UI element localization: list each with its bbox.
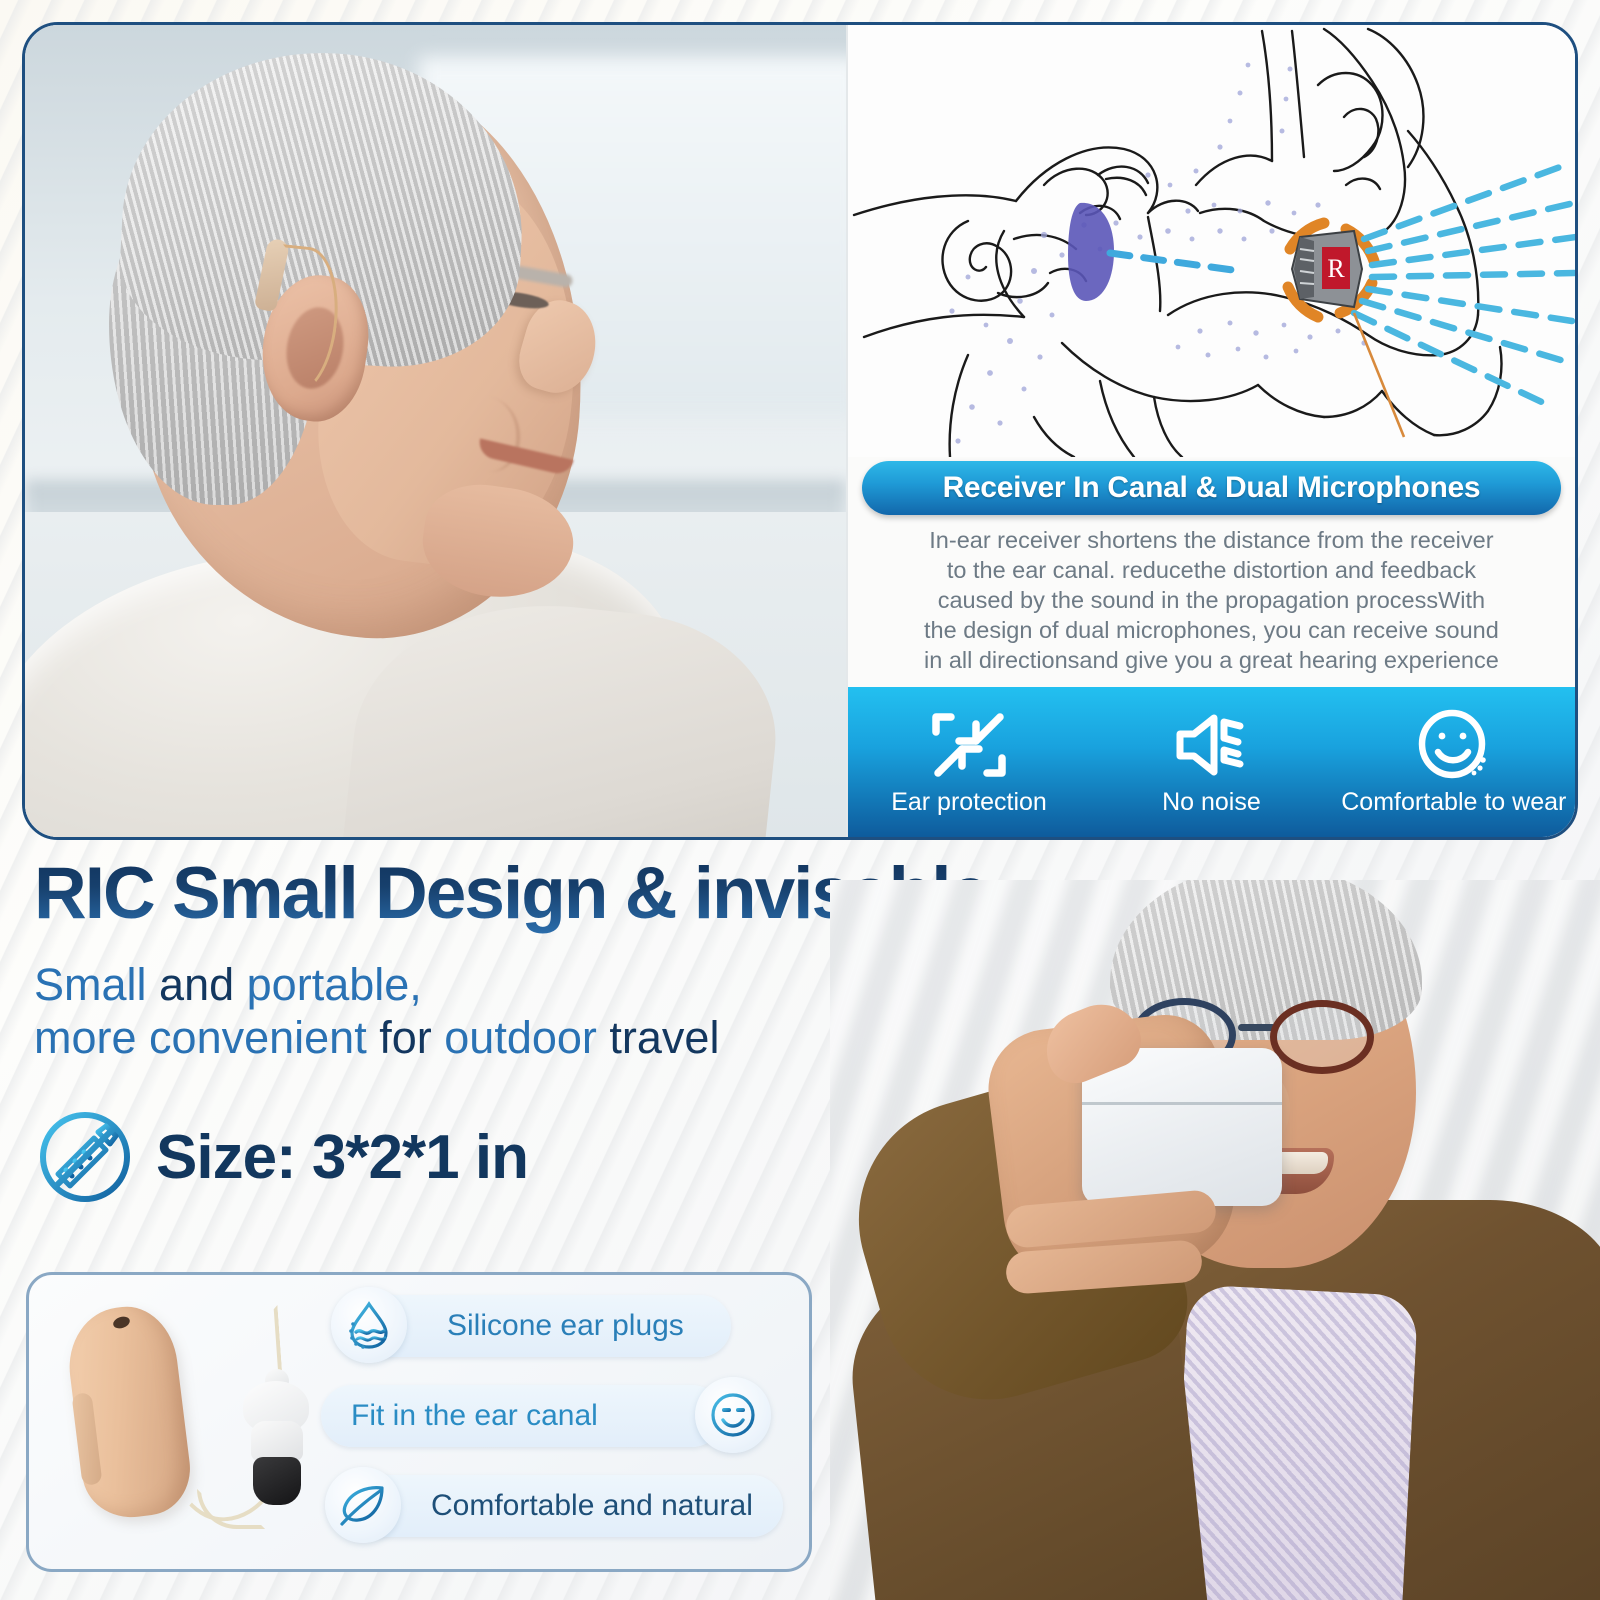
- subtitle-word: portable,: [247, 959, 422, 1010]
- description-line-4: the design of dual microphones, you can …: [860, 615, 1563, 645]
- shrink-arrows-icon: [926, 708, 1012, 782]
- feature-description: In-ear receiver shortens the distance fr…: [848, 515, 1575, 675]
- chip-label: Silicone ear plugs: [447, 1309, 684, 1343]
- water-drop-waves-icon-badge: [331, 1287, 407, 1363]
- subtitle-word: and: [159, 959, 234, 1010]
- subtitle-word: Small: [34, 959, 147, 1010]
- bte-hearing-aid-with-receiver-dome: [47, 1281, 327, 1571]
- smiley-face-icon: [709, 1391, 757, 1439]
- ruler-pencil-circle-icon: [36, 1108, 134, 1206]
- receiver-label-R: R: [1327, 254, 1345, 283]
- receiver-in-canal-banner: Receiver In Canal & Dual Microphones: [862, 461, 1561, 515]
- receiver-dome-base: [253, 1457, 301, 1505]
- subtitle-word: convenient: [149, 1012, 367, 1063]
- charging-case: [1082, 1048, 1282, 1206]
- senior-man-wearing-hearing-aid-photo: [25, 25, 846, 837]
- chip-label: Fit in the ear canal: [351, 1399, 598, 1433]
- mute-speaker-icon: [1168, 708, 1254, 782]
- leaf-icon-badge: [325, 1467, 401, 1543]
- leaf-icon: [338, 1483, 388, 1527]
- smiley-face-icon: [1411, 708, 1497, 782]
- feature-label: Ear protection: [891, 788, 1047, 817]
- subtitle-line-1: Small and portable,: [34, 958, 719, 1011]
- feature-chip-list: Silicone ear plugs Fit in the ear canal: [315, 1289, 801, 1561]
- description-line-3: caused by the sound in the propagation p…: [860, 585, 1563, 615]
- subtitle-word: more: [34, 1012, 137, 1063]
- man2-shirt: [1172, 1284, 1419, 1600]
- receiver-dome-body: [251, 1421, 303, 1461]
- glasses-right-lens: [1270, 1000, 1374, 1074]
- smiley-face-icon-badge: [695, 1377, 771, 1453]
- ear-plug-features-card: Silicone ear plugs Fit in the ear canal: [26, 1272, 812, 1572]
- description-line-5: in all directionsand give you a great he…: [860, 645, 1563, 675]
- receiver-device: R: [1292, 231, 1362, 307]
- ear-anatomy-receiver-in-canal-diagram: R: [848, 25, 1575, 457]
- feature-label: No noise: [1162, 788, 1261, 817]
- chip-label: Comfortable and natural: [431, 1489, 753, 1523]
- ear-diagram-svg: R: [848, 25, 1575, 457]
- chip-fit-in-ear-canal: Fit in the ear canal: [321, 1385, 723, 1447]
- smiling-senior-man-holding-charging-case-photo: [830, 880, 1600, 1600]
- description-line-2: to the ear canal. reducethe distortion a…: [860, 555, 1563, 585]
- top-panels-row: R Receiver In Canal & Dual Microphones: [22, 22, 1578, 840]
- page-subtitle: Small and portable, more convenient for …: [34, 958, 719, 1064]
- water-drop-waves-icon: [345, 1300, 393, 1350]
- subtitle-word: outdoor: [444, 1012, 597, 1063]
- feature-no-noise: No noise: [1090, 708, 1332, 817]
- subtitle-word: for: [379, 1012, 432, 1063]
- size-value: Size: 3*2*1 in: [156, 1122, 528, 1193]
- feature-label: Comfortable to wear: [1341, 788, 1566, 817]
- feature-comfortable-to-wear: Comfortable to wear: [1333, 708, 1575, 817]
- subtitle-word: travel: [609, 1012, 719, 1063]
- description-line-1: In-ear receiver shortens the distance fr…: [860, 525, 1563, 555]
- feature-ear-protection: Ear protection: [848, 708, 1090, 817]
- sound-ray-group: [1354, 167, 1575, 405]
- receiver-in-canal-info-panel: R Receiver In Canal & Dual Microphones: [846, 25, 1575, 837]
- charging-case-seam: [1082, 1102, 1282, 1105]
- feature-icon-strip: Ear protection No noise: [848, 687, 1575, 837]
- subtitle-line-2: more convenient for outdoor travel: [34, 1011, 719, 1064]
- banner-title: Receiver In Canal & Dual Microphones: [943, 471, 1481, 505]
- size-spec-row: Size: 3*2*1 in: [36, 1108, 528, 1206]
